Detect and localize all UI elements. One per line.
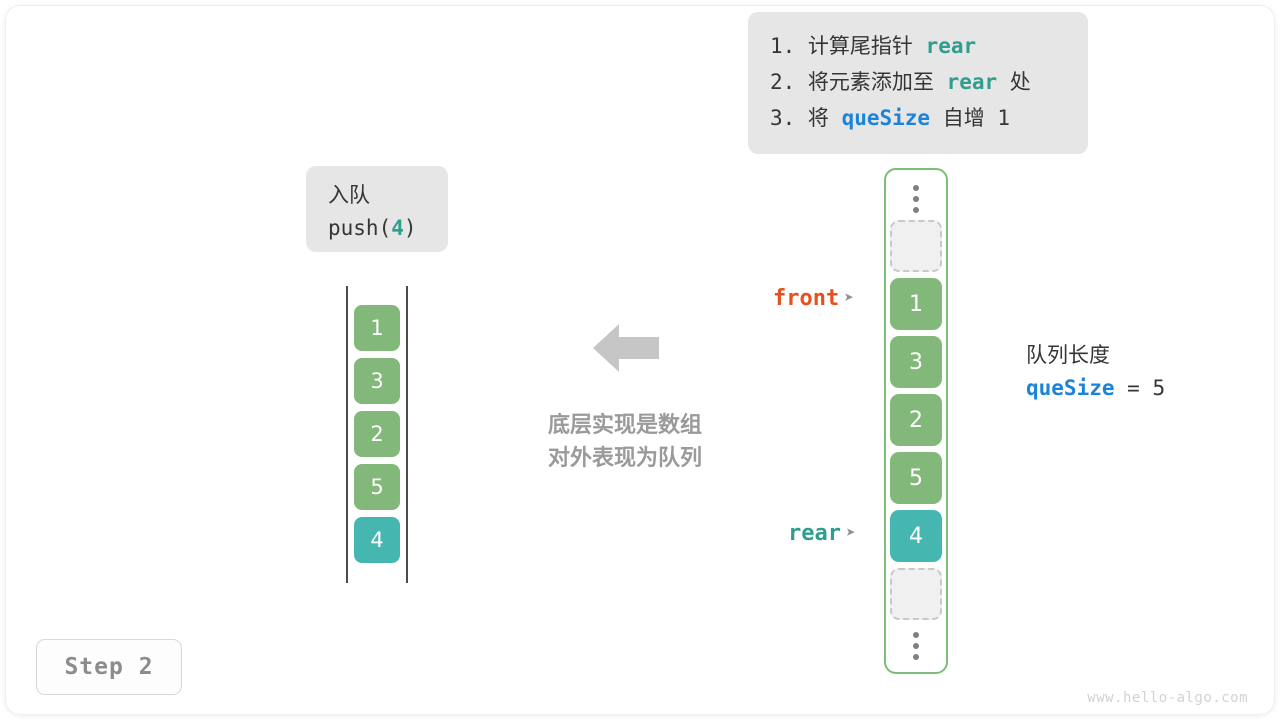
queue-cell: 1 xyxy=(354,305,400,351)
quesize-value: queSize = 5 xyxy=(1026,372,1165,406)
step-badge: Step 2 xyxy=(36,639,182,695)
queue-rail-left xyxy=(346,286,348,583)
array-cell: 4 xyxy=(890,510,942,562)
operation-call-arg: 4 xyxy=(391,216,404,240)
array-bottom-ellipsis-icon xyxy=(914,632,919,660)
front-pointer-text: front xyxy=(773,286,839,311)
left-arrow-icon xyxy=(593,320,659,376)
queue-rail-right xyxy=(406,286,408,583)
instruction-line-2-text: 2. 将元素添加至 xyxy=(770,70,947,94)
instruction-line-3: 3. 将 queSize 自增 1 xyxy=(770,100,1066,136)
rear-pointer-text: rear xyxy=(788,521,841,546)
queue-cell: 4 xyxy=(354,517,400,563)
rear-pointer-label: rear➤ xyxy=(788,521,856,546)
instruction-line-1-keyword: rear xyxy=(926,34,977,58)
rear-pointer-arrow-icon: ➤ xyxy=(846,523,856,542)
instruction-line-1: 1. 计算尾指针 rear xyxy=(770,28,1066,64)
queue-cell: 3 xyxy=(354,358,400,404)
quesize-label: 队列长度 xyxy=(1026,340,1165,372)
array-cells-inner: 13254 xyxy=(890,220,942,626)
center-caption: 底层实现是数组 对外表现为队列 xyxy=(529,409,721,475)
operation-call-prefix: push( xyxy=(328,216,391,240)
quesize-info: 队列长度 queSize = 5 xyxy=(1026,340,1165,405)
array-cell: 3 xyxy=(890,336,942,388)
front-pointer-arrow-icon: ➤ xyxy=(844,288,854,307)
operation-call: push(4) xyxy=(328,212,448,245)
center-caption-line-1: 底层实现是数组 xyxy=(529,409,721,442)
instruction-line-3-suffix: 自增 1 xyxy=(930,106,1010,130)
operation-box: 入队 push(4) xyxy=(306,166,448,252)
queue-cell: 5 xyxy=(354,464,400,510)
instruction-line-1-text: 1. 计算尾指针 xyxy=(770,34,926,58)
array-cell: 1 xyxy=(890,278,942,330)
instruction-line-3-text: 3. 将 xyxy=(770,106,842,130)
array-cell: 2 xyxy=(890,394,942,446)
instruction-line-3-keyword: queSize xyxy=(842,106,931,130)
quesize-number: 5 xyxy=(1152,376,1165,400)
array-cell-empty xyxy=(890,220,942,272)
instruction-box: 1. 计算尾指针 rear 2. 将元素添加至 rear 处 3. 将 queS… xyxy=(748,12,1088,154)
operation-title: 入队 xyxy=(328,179,448,212)
array-top-ellipsis-icon xyxy=(914,185,919,213)
instruction-line-2-keyword: rear xyxy=(947,70,998,94)
operation-call-suffix: ) xyxy=(404,216,417,240)
array-cell-list: 13254 xyxy=(884,168,948,674)
watermark: www.hello-algo.com xyxy=(1087,690,1248,706)
instruction-line-2-suffix: 处 xyxy=(997,70,1031,94)
center-caption-line-2: 对外表现为队列 xyxy=(529,442,721,475)
front-pointer-label: front➤ xyxy=(773,286,854,311)
quesize-equals: = xyxy=(1115,376,1153,400)
instruction-line-2: 2. 将元素添加至 rear 处 xyxy=(770,64,1066,100)
array-cell: 5 xyxy=(890,452,942,504)
quesize-name: queSize xyxy=(1026,376,1115,400)
array-cell-empty xyxy=(890,568,942,620)
queue-cell: 2 xyxy=(354,411,400,457)
queue-cell-list: 13254 xyxy=(354,305,400,570)
